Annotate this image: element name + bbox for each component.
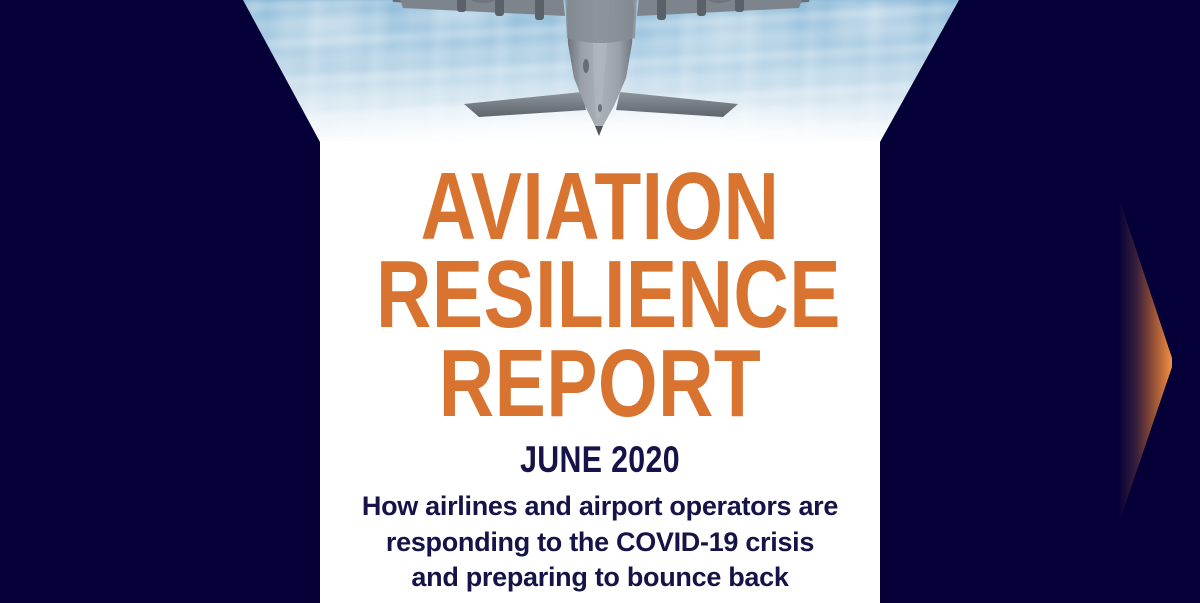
airplane-icon bbox=[243, 0, 959, 142]
report-cover: AVIATION RESILIENCE REPORT JUNE 2020 How… bbox=[0, 0, 1200, 603]
hero-photo bbox=[243, 0, 959, 142]
title-line-1: AVIATION bbox=[376, 163, 824, 251]
title-line-2: RESILIENCE bbox=[376, 251, 824, 339]
subtitle-line-3: and preparing to bounce back bbox=[320, 560, 880, 596]
report-subtitle: How airlines and airport operators are r… bbox=[320, 489, 880, 596]
report-title: AVIATION RESILIENCE REPORT bbox=[320, 163, 880, 428]
issue-date: JUNE 2020 bbox=[370, 441, 829, 478]
cover-content-panel: AVIATION RESILIENCE REPORT JUNE 2020 How… bbox=[320, 141, 880, 603]
title-line-3: REPORT bbox=[376, 340, 824, 428]
orange-chevron-accent bbox=[1118, 195, 1174, 526]
subtitle-line-1: How airlines and airport operators are bbox=[320, 489, 880, 525]
subtitle-line-2: responding to the COVID-19 crisis bbox=[320, 525, 880, 561]
